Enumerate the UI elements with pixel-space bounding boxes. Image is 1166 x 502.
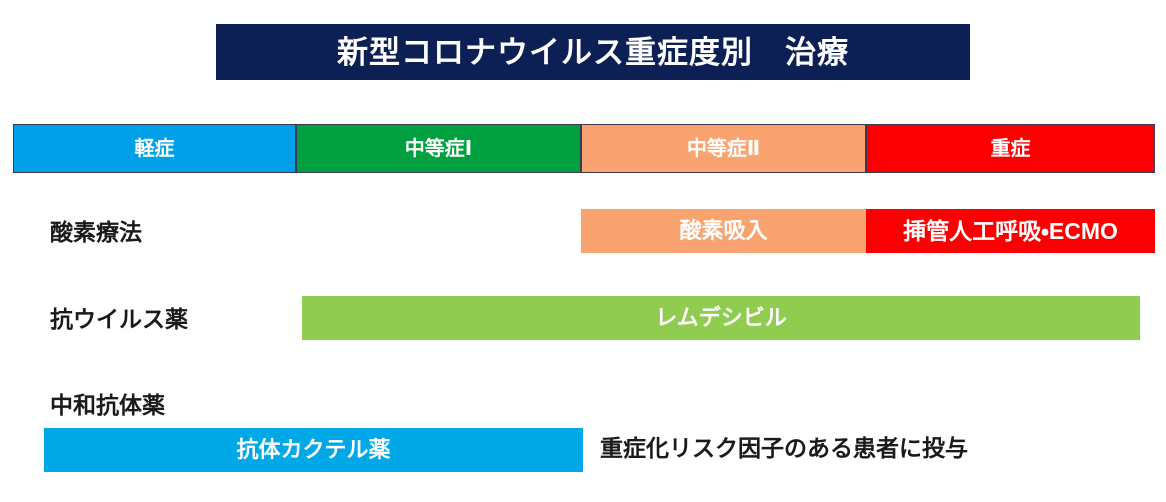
row-label-antiviral: 抗ウイルス薬 [50,308,188,331]
title-banner: 新型コロナウイルス重症度別 治療 [216,24,970,80]
bar-antibody-cocktail: 抗体カクテル薬 [44,428,583,472]
severity-label-severe: 重症 [991,139,1031,159]
bar-label-oxygen-inhalation: 酸素吸入 [679,220,767,242]
severity-segment-mild: 軽症 [13,124,296,173]
row-label-oxygen-therapy: 酸素療法 [50,221,142,244]
bar-oxygen-inhalation: 酸素吸入 [581,209,866,253]
severity-segment-moderate-1: 中等症Ⅰ [296,124,581,173]
bar-label-remdesivir: レムデシビル [655,307,787,329]
page-title: 新型コロナウイルス重症度別 治療 [337,37,849,68]
bar-intubation-ecmo: 挿管人工呼吸・ECMO [866,209,1155,253]
bar-label-antibody-cocktail: 抗体カクテル薬 [236,439,390,461]
severity-segment-severe: 重症 [866,124,1155,173]
severity-segment-moderate-2: 中等症Ⅱ [581,124,866,173]
note-risk-factor-administration: 重症化リスク因子のある患者に投与 [600,437,968,460]
row-label-neutralizing-antibody: 中和抗体薬 [50,394,165,417]
bar-remdesivir: レムデシビル [302,296,1140,340]
severity-label-mild: 軽症 [135,139,175,159]
bar-label-intubation-ecmo: 挿管人工呼吸・ECMO [903,220,1118,243]
infographic-canvas: 新型コロナウイルス重症度別 治療 軽症 中等症Ⅰ 中等症Ⅱ 重症 酸素療法 酸素… [0,0,1166,502]
severity-band: 軽症 中等症Ⅰ 中等症Ⅱ 重症 [13,124,1155,173]
severity-label-moderate-1: 中等症Ⅰ [405,139,472,159]
severity-label-moderate-2: 中等症Ⅱ [687,139,760,159]
